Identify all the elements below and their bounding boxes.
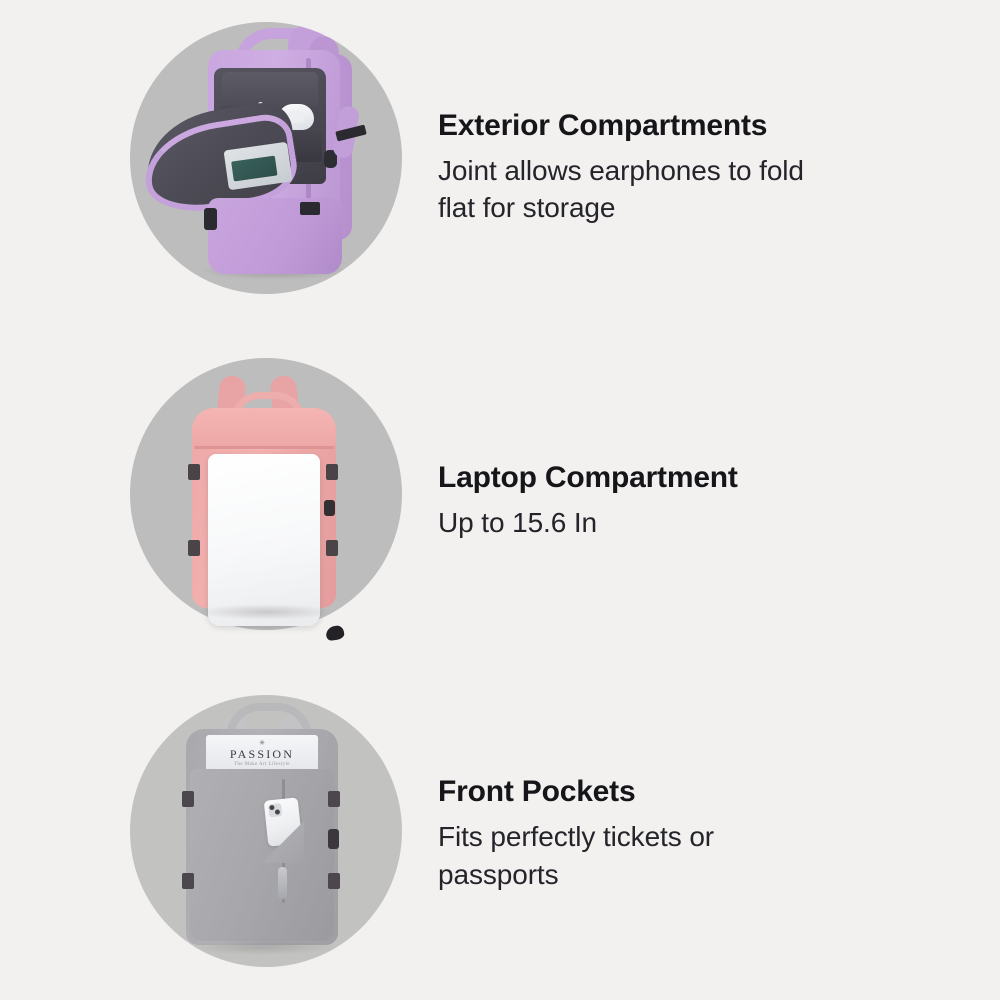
gray-backpack-illustration: ✳ PASSION The Make Art Lifestyle	[130, 695, 402, 995]
top-flap-panel	[192, 408, 336, 448]
buckle-bottom-right	[326, 540, 338, 556]
feature-text-column: Exterior Compartments Joint allows earph…	[438, 108, 1000, 227]
zipper-seam	[194, 446, 334, 449]
feature-row-exterior-compartments: Exterior Compartments Joint allows earph…	[0, 0, 1000, 334]
feature-title: Front Pockets	[438, 774, 1000, 809]
usb-port-icon	[328, 829, 339, 849]
left-buckle-clip	[204, 208, 217, 230]
booklet-title: PASSION	[206, 747, 318, 762]
booklet-subtitle: The Make Art Lifestyle	[206, 762, 318, 767]
product-image-circle-laptop-compartment	[130, 358, 402, 630]
feature-image-column: ✳ PASSION The Make Art Lifestyle	[0, 667, 438, 1000]
feature-row-front-pockets: ✳ PASSION The Make Art Lifestyle	[0, 667, 1000, 1000]
zipper-pull	[278, 867, 287, 899]
booklet-star-icon: ✳	[206, 740, 318, 747]
front-lower-panel	[208, 198, 342, 274]
feature-text-column: Laptop Compartment Up to 15.6 In	[438, 460, 1000, 542]
feature-description: Joint allows earphones to fold flat for …	[438, 152, 828, 226]
feature-title: Laptop Compartment	[438, 460, 1000, 495]
feature-description: Up to 15.6 In	[438, 504, 828, 541]
buckle-top-left	[188, 464, 200, 480]
laptop-logo-icon	[325, 625, 345, 641]
buckle-top-left	[182, 791, 194, 807]
feature-row-laptop-compartment: Laptop Compartment Up to 15.6 In	[0, 334, 1000, 667]
buckle-bottom-right	[328, 873, 340, 889]
front-pocket-panel	[190, 769, 334, 941]
backpack-shadow	[196, 604, 336, 620]
feature-image-column	[0, 0, 438, 334]
feature-image-column	[0, 334, 438, 667]
purple-backpack-illustration	[130, 22, 402, 294]
buckle-top-right	[326, 464, 338, 480]
usb-port-icon	[324, 500, 335, 516]
product-image-circle-exterior-compartments	[130, 22, 402, 294]
product-image-circle-front-pockets: ✳ PASSION The Make Art Lifestyle	[130, 695, 402, 967]
feature-description: Fits perfectly tickets or passports	[438, 818, 828, 892]
circle-clip	[130, 22, 402, 294]
feature-title: Exterior Compartments	[438, 108, 1000, 143]
feature-text-column: Front Pockets Fits perfectly tickets or …	[438, 774, 1000, 893]
buckle-bottom-left	[188, 540, 200, 556]
phone-in-pocket	[130, 22, 158, 56]
buckle-bottom-left	[182, 873, 194, 889]
buckle-top-right	[328, 791, 340, 807]
passion-booklet: ✳ PASSION The Make Art Lifestyle	[206, 735, 318, 773]
bottom-buckle-clip	[300, 202, 320, 215]
white-laptop	[208, 454, 320, 626]
backpack-shadow	[190, 939, 334, 955]
phone-camera-icon	[268, 803, 282, 817]
pink-backpack-illustration	[130, 358, 402, 658]
